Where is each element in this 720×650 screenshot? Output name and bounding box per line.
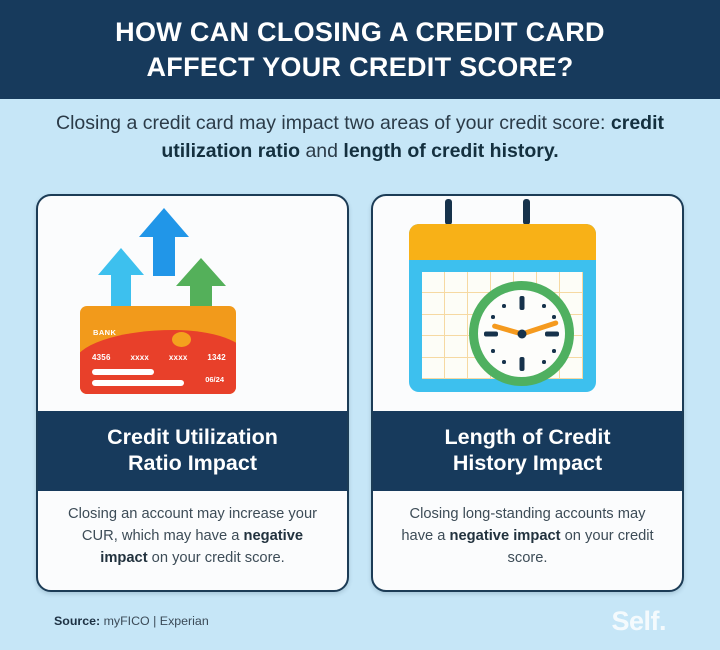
clock-graphic bbox=[469, 281, 574, 386]
card-stripe-short bbox=[92, 369, 154, 375]
card-expiry: 06/24 bbox=[205, 375, 224, 384]
credit-card-illustration: BANK 4356 xxxx xxxx 1342 06/24 bbox=[38, 196, 347, 411]
clock-center-pin bbox=[517, 329, 526, 338]
source-attribution: Source: myFICO | Experian bbox=[54, 614, 209, 628]
clock-dot-5 bbox=[542, 360, 546, 364]
card-number-group-4: 1342 bbox=[207, 353, 226, 362]
source-value: myFICO | Experian bbox=[100, 614, 209, 628]
clock-dot-8 bbox=[491, 349, 495, 353]
infographic-root: HOW CAN CLOSING A CREDIT CARD AFFECT YOU… bbox=[0, 0, 720, 650]
header-banner: HOW CAN CLOSING A CREDIT CARD AFFECT YOU… bbox=[0, 0, 720, 99]
panel-credit-utilization: BANK 4356 xxxx xxxx 1342 06/24 Credit Ut… bbox=[36, 194, 349, 592]
credit-card-graphic: BANK 4356 xxxx xxxx 1342 06/24 bbox=[80, 306, 236, 394]
clock-tick-3 bbox=[545, 331, 559, 336]
panel-0-body-part-2: on your credit score. bbox=[148, 550, 285, 566]
card-number: 4356 xxxx xxxx 1342 bbox=[92, 353, 226, 362]
clock-tick-12 bbox=[519, 296, 524, 310]
clock-tick-9 bbox=[484, 331, 498, 336]
card-number-group-2: xxxx bbox=[130, 353, 149, 362]
card-number-group-3: xxxx bbox=[169, 353, 188, 362]
panels-container: BANK 4356 xxxx xxxx 1342 06/24 Credit Ut… bbox=[36, 194, 684, 592]
clock-dot-4 bbox=[552, 349, 556, 353]
calendar-ring-right bbox=[523, 199, 530, 225]
clock-tick-6 bbox=[519, 357, 524, 371]
clock-dot-11 bbox=[502, 304, 506, 308]
subtitle-text: Closing a credit card may impact two are… bbox=[0, 110, 720, 165]
panel-body-length-of-credit-history: Closing long-standing accounts may have … bbox=[373, 491, 682, 590]
panel-title-credit-utilization: Credit Utilization Ratio Impact bbox=[38, 411, 347, 491]
calendar-ring-left bbox=[445, 199, 452, 225]
clock-dot-7 bbox=[502, 360, 506, 364]
calendar-header-band bbox=[409, 224, 596, 260]
clock-dot-2 bbox=[552, 315, 556, 319]
subtitle-part-1: Closing a credit card may impact two are… bbox=[56, 112, 611, 134]
subtitle-bold-2: length of credit history. bbox=[343, 140, 558, 162]
panel-1-body-bold: negative impact bbox=[450, 528, 561, 544]
page-title: HOW CAN CLOSING A CREDIT CARD AFFECT YOU… bbox=[75, 15, 645, 83]
card-number-group-1: 4356 bbox=[92, 353, 111, 362]
clock-face bbox=[478, 290, 565, 377]
panel-body-credit-utilization: Closing an account may increase your CUR… bbox=[38, 491, 347, 590]
clock-dot-1 bbox=[542, 304, 546, 308]
footer: Source: myFICO | Experian Self. bbox=[0, 606, 720, 636]
card-bank-label: BANK bbox=[93, 328, 116, 337]
clock-dot-10 bbox=[491, 315, 495, 319]
card-circle-accent bbox=[172, 332, 191, 347]
panel-title-length-of-credit-history: Length of Credit History Impact bbox=[373, 411, 682, 491]
subtitle-part-2: and bbox=[300, 140, 343, 162]
panel-length-of-credit-history: Length of Credit History Impact Closing … bbox=[371, 194, 684, 592]
card-stripe-long bbox=[92, 380, 184, 386]
calendar-clock-illustration bbox=[373, 196, 682, 411]
self-logo: Self. bbox=[611, 606, 666, 637]
source-label: Source: bbox=[54, 614, 100, 628]
